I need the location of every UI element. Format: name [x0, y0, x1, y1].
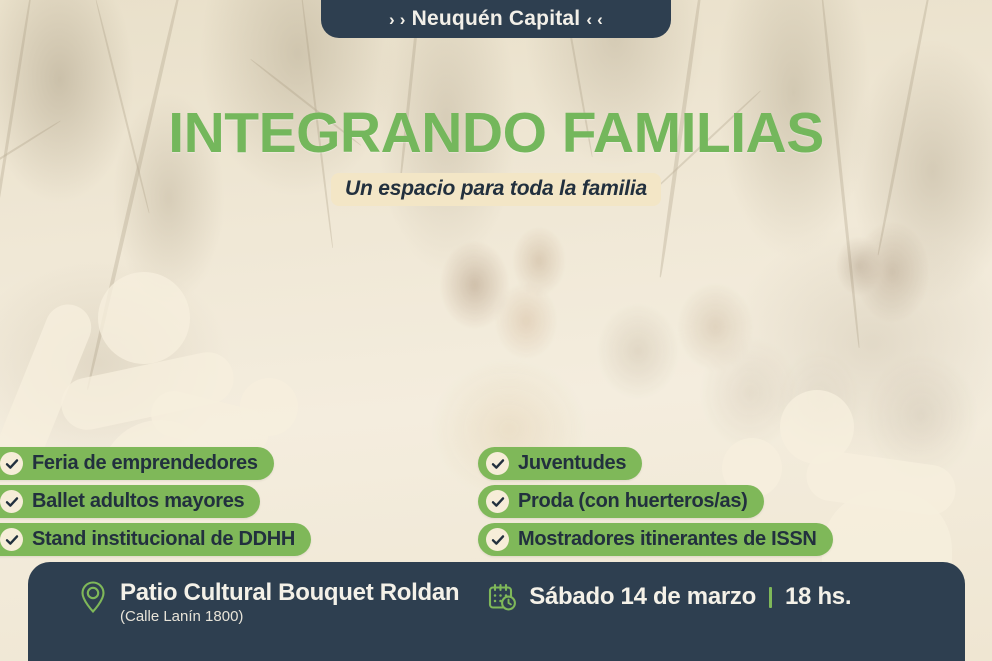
check-icon: [486, 528, 509, 551]
chevrons-right-icon: ‹ ‹: [586, 10, 603, 29]
header-badge-label: Neuquén Capital: [412, 7, 581, 30]
datetime-separator: [769, 587, 772, 608]
venue-info: Patio Cultural Bouquet Roldan (Calle Lan…: [78, 580, 459, 625]
venue-name: Patio Cultural Bouquet Roldan: [120, 580, 459, 606]
feature-label: Mostradores itinerantes de ISSN: [518, 528, 817, 551]
feature-label: Stand institucional de DDHH: [32, 528, 295, 551]
features-left-column: Feria de emprendedores Ballet adultos ma…: [0, 447, 311, 561]
check-icon: [486, 490, 509, 513]
feature-pill: Proda (con huerteros/as): [478, 485, 764, 518]
venue-texts: Patio Cultural Bouquet Roldan (Calle Lan…: [120, 580, 459, 625]
feature-label: Juventudes: [518, 452, 626, 475]
subtitle-wrapper: Un espacio para toda la familia: [0, 173, 992, 206]
check-icon: [0, 490, 23, 513]
feature-pill: Juventudes: [478, 447, 642, 480]
feature-pill: Mostradores itinerantes de ISSN: [478, 523, 833, 556]
feature-pill: Feria de emprendedores: [0, 447, 274, 480]
event-time: 18 hs.: [785, 583, 851, 611]
check-icon: [0, 528, 23, 551]
venue-address: (Calle Lanín 1800): [120, 608, 459, 625]
header-badge: › › Neuquén Capital ‹ ‹: [321, 0, 671, 38]
map-pin-icon: [78, 580, 108, 614]
poster-canvas: › › Neuquén Capital ‹ ‹ INTEGRANDO FAMIL…: [0, 0, 992, 661]
feature-label: Feria de emprendedores: [32, 452, 258, 475]
event-date: Sábado 14 de marzo: [529, 583, 756, 611]
title-block: INTEGRANDO FAMILIAS Un espacio para toda…: [0, 104, 992, 206]
chevrons-left-icon: › ›: [389, 10, 406, 29]
page-subtitle: Un espacio para toda la familia: [331, 173, 661, 206]
feature-label: Proda (con huerteros/as): [518, 490, 748, 513]
page-title: INTEGRANDO FAMILIAS: [0, 104, 992, 164]
calendar-clock-icon: [487, 582, 517, 612]
datetime-info: Sábado 14 de marzo 18 hs.: [487, 580, 851, 612]
features-right-column: Juventudes Proda (con huerteros/as) Most…: [478, 447, 833, 561]
footer-bar: Patio Cultural Bouquet Roldan (Calle Lan…: [28, 562, 965, 661]
datetime-text: Sábado 14 de marzo 18 hs.: [529, 583, 851, 611]
check-icon: [0, 452, 23, 475]
check-icon: [486, 452, 509, 475]
feature-pill: Ballet adultos mayores: [0, 485, 260, 518]
feature-label: Ballet adultos mayores: [32, 490, 244, 513]
feature-pill: Stand institucional de DDHH: [0, 523, 311, 556]
header-badge-text: › › Neuquén Capital ‹ ‹: [389, 7, 603, 31]
